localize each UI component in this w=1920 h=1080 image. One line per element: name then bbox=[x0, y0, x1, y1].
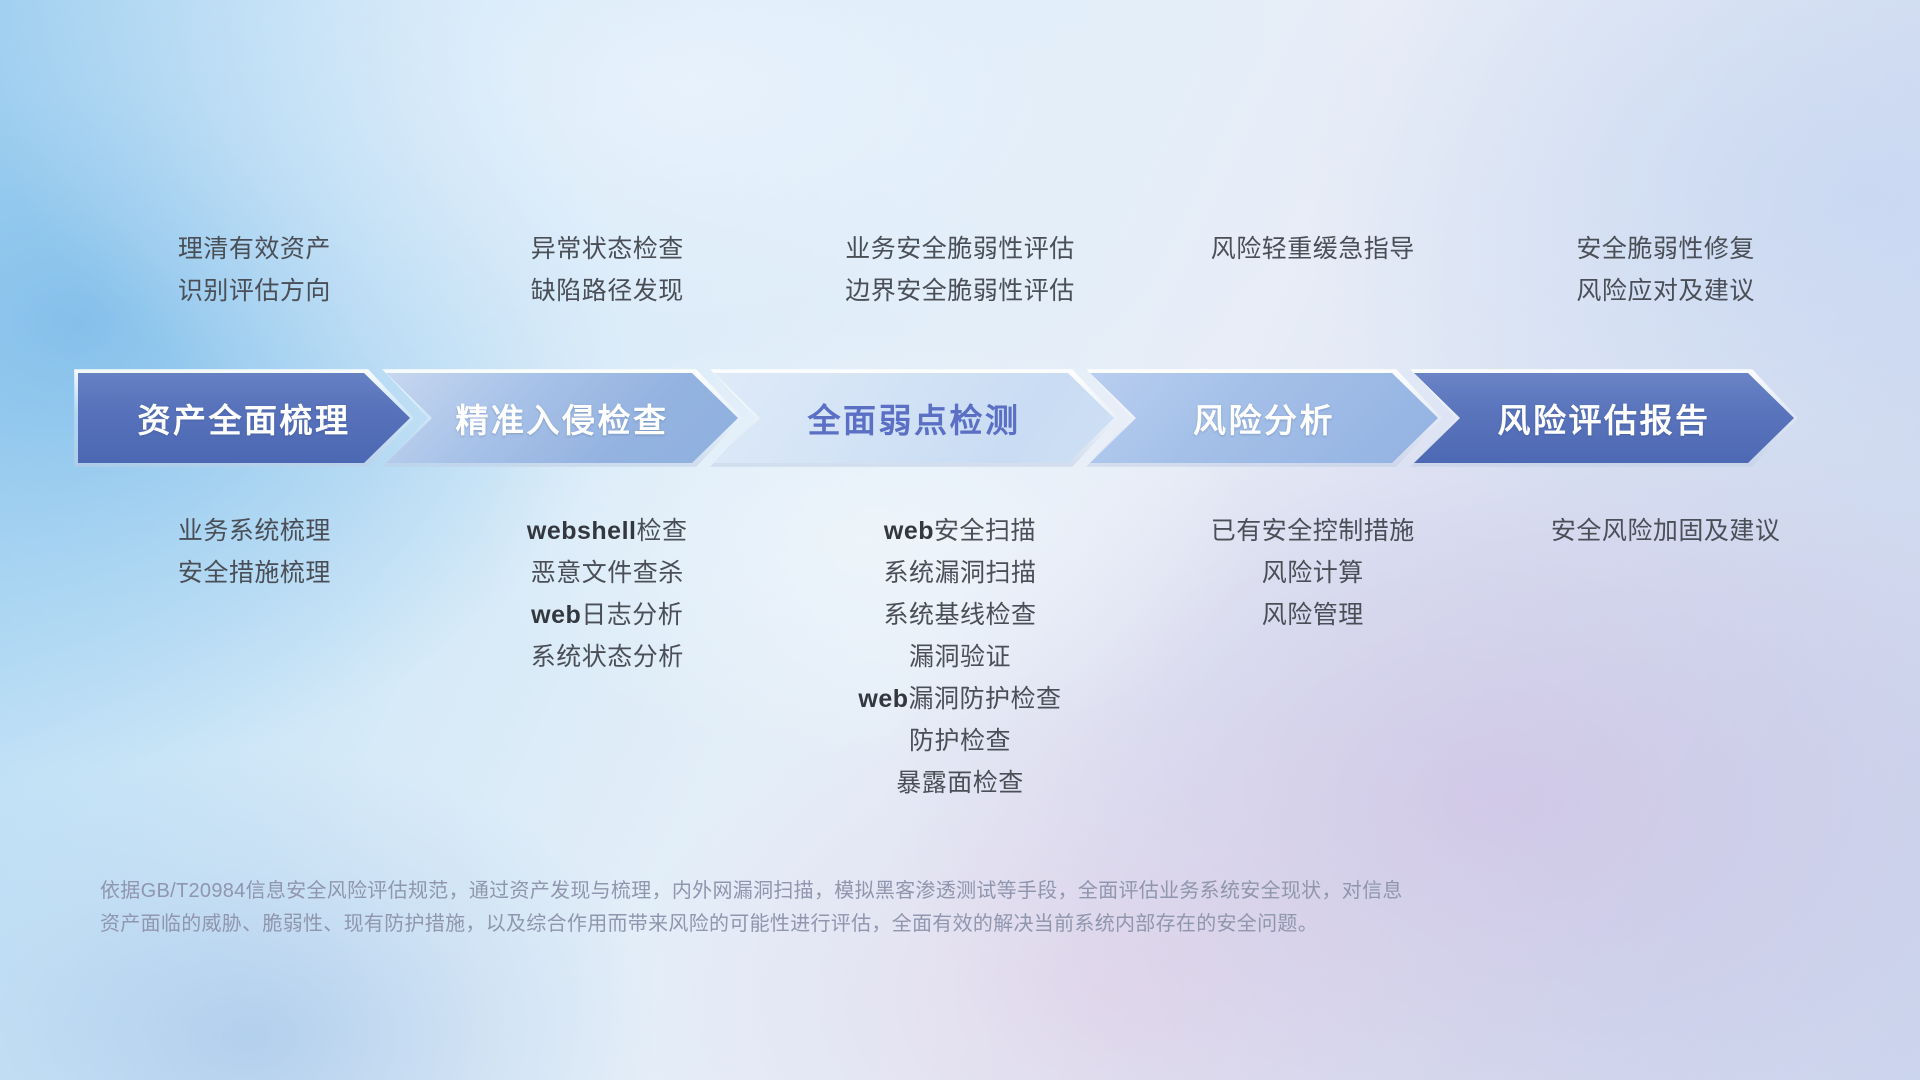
slide-canvas: 理清有效资产识别评估方向异常状态检查缺陷路径发现业务安全脆弱性评估边界安全脆弱性… bbox=[0, 0, 1920, 1080]
stage-input-item: 业务安全脆弱性评估 bbox=[845, 228, 1075, 270]
stage-output-item: 系统基线检查 bbox=[883, 594, 1036, 636]
stage-output-item: web安全扫描 bbox=[884, 510, 1036, 552]
process-stage-label: 风险评估报告 bbox=[1498, 394, 1711, 442]
stage-outputs-column: webshell检查恶意文件查杀web日志分析系统状态分析 bbox=[431, 510, 784, 678]
stage-inputs-column: 异常状态检查缺陷路径发现 bbox=[431, 228, 784, 312]
footer-description: 依据GB/T20984信息安全风险评估规范，通过资产发现与梳理，内外网漏洞扫描，… bbox=[100, 875, 1650, 941]
stage-inputs-column: 业务安全脆弱性评估边界安全脆弱性评估 bbox=[784, 228, 1137, 312]
process-stage-chevron[interactable]: 风险评估报告 bbox=[1414, 373, 1794, 463]
stage-output-item: 业务系统梳理 bbox=[178, 510, 331, 552]
process-stage-label: 精准入侵检查 bbox=[456, 394, 669, 442]
stage-input-item: 识别评估方向 bbox=[178, 270, 331, 312]
footer-line-1: 依据GB/T20984信息安全风险评估规范，通过资产发现与梳理，内外网漏洞扫描，… bbox=[100, 875, 1650, 908]
stage-output-item: 风险管理 bbox=[1262, 594, 1364, 636]
stage-output-item: 安全措施梳理 bbox=[178, 552, 331, 594]
output-latin-prefix: web bbox=[531, 601, 581, 629]
stage-inputs-column: 理清有效资产识别评估方向 bbox=[78, 228, 431, 312]
stage-output-item: 风险计算 bbox=[1262, 552, 1364, 594]
process-chevron-band: 资产全面梳理精准入侵检查全面弱点检测风险分析风险评估报告 bbox=[78, 373, 1842, 463]
stage-output-item: 漏洞验证 bbox=[909, 636, 1011, 678]
stage-output-item: web日志分析 bbox=[531, 594, 683, 636]
output-latin-prefix: web bbox=[884, 517, 934, 545]
stage-input-item: 风险轻重缓急指导 bbox=[1211, 228, 1415, 270]
process-stage-chevron[interactable]: 风险分析 bbox=[1090, 373, 1438, 463]
process-stage-label: 资产全面梳理 bbox=[138, 394, 351, 442]
process-stage-chevron[interactable]: 资产全面梳理 bbox=[78, 373, 410, 463]
stage-input-item: 理清有效资产 bbox=[178, 228, 331, 270]
stage-output-item: 已有安全控制措施 bbox=[1211, 510, 1415, 552]
stage-inputs-column: 风险轻重缓急指导 bbox=[1136, 228, 1489, 312]
footer-line-2: 资产面临的威胁、脆弱性、现有防护措施，以及综合作用而带来风险的可能性进行评估，全… bbox=[100, 908, 1650, 941]
stage-outputs-column: 安全风险加固及建议 bbox=[1489, 510, 1842, 552]
stage-input-item: 异常状态检查 bbox=[531, 228, 684, 270]
stage-output-item: web漏洞防护检查 bbox=[858, 678, 1061, 720]
stage-output-item: 系统漏洞扫描 bbox=[883, 552, 1036, 594]
stage-outputs-column: web安全扫描系统漏洞扫描系统基线检查漏洞验证web漏洞防护检查防护检查暴露面检… bbox=[784, 510, 1137, 804]
stage-output-item: 系统状态分析 bbox=[531, 636, 684, 678]
stage-output-item: webshell检查 bbox=[527, 510, 688, 552]
stage-input-item: 边界安全脆弱性评估 bbox=[845, 270, 1075, 312]
process-stage-label: 全面弱点检测 bbox=[808, 394, 1021, 442]
output-latin-prefix: webshell bbox=[527, 517, 637, 545]
process-stage-chevron[interactable]: 精准入侵检查 bbox=[386, 373, 738, 463]
stage-output-item: 暴露面检查 bbox=[896, 762, 1024, 804]
stage-outputs-column: 已有安全控制措施风险计算风险管理 bbox=[1136, 510, 1489, 636]
stage-inputs-column: 安全脆弱性修复风险应对及建议 bbox=[1489, 228, 1842, 312]
stage-input-item: 缺陷路径发现 bbox=[531, 270, 684, 312]
process-stage-label: 风险分析 bbox=[1193, 394, 1335, 442]
stage-inputs-row: 理清有效资产识别评估方向异常状态检查缺陷路径发现业务安全脆弱性评估边界安全脆弱性… bbox=[78, 228, 1842, 312]
stage-input-item: 风险应对及建议 bbox=[1576, 270, 1755, 312]
stage-input-item: 安全脆弱性修复 bbox=[1576, 228, 1755, 270]
stage-output-item: 防护检查 bbox=[909, 720, 1011, 762]
output-latin-prefix: web bbox=[858, 685, 908, 713]
stage-output-item: 恶意文件查杀 bbox=[531, 552, 684, 594]
stage-outputs-column: 业务系统梳理安全措施梳理 bbox=[78, 510, 431, 594]
stage-outputs-row: 业务系统梳理安全措施梳理webshell检查恶意文件查杀web日志分析系统状态分… bbox=[78, 510, 1842, 804]
stage-output-item: 安全风险加固及建议 bbox=[1551, 510, 1781, 552]
process-stage-chevron[interactable]: 全面弱点检测 bbox=[714, 373, 1114, 463]
